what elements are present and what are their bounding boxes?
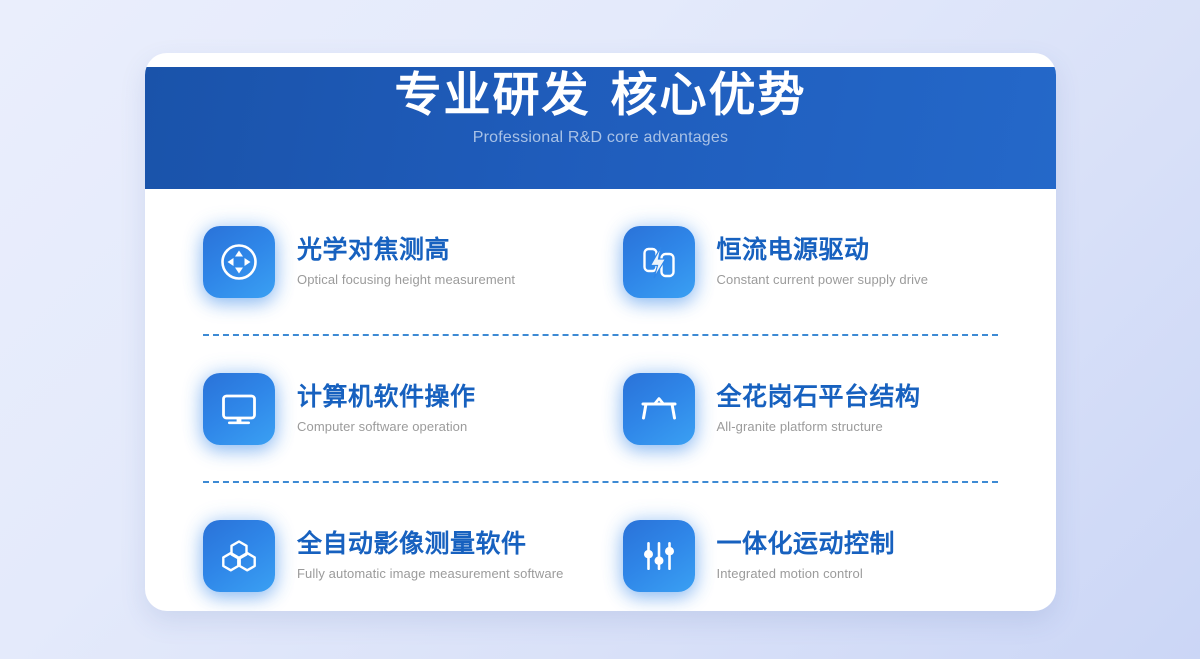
feature-row-2: 计算机软件操作 Computer software operation	[203, 336, 998, 481]
feature-title: 全花岗石平台结构	[717, 383, 921, 412]
feature-item-granite-platform[interactable]: 全花岗石平台结构 All-granite platform structure	[601, 373, 999, 445]
feature-text: 全自动影像测量软件 Fully automatic image measurem…	[275, 530, 563, 582]
feature-item-image-measurement[interactable]: 全自动影像测量软件 Fully automatic image measurem…	[203, 520, 601, 592]
feature-row-1: 光学对焦测高 Optical focusing height measureme…	[203, 189, 998, 334]
feature-item-optical-focus[interactable]: 光学对焦测高 Optical focusing height measureme…	[203, 226, 601, 298]
feature-item-power-supply[interactable]: 恒流电源驱动 Constant current power supply dri…	[601, 226, 999, 298]
advantages-card: 专业研发核心优势 Professional R&D core advantage…	[145, 53, 1056, 611]
feature-subtitle: Computer software operation	[297, 419, 476, 434]
platform-table-icon	[623, 373, 695, 445]
feature-subtitle: Fully automatic image measurement softwa…	[297, 566, 563, 581]
feature-item-motion-control[interactable]: 一体化运动控制 Integrated motion control	[601, 520, 999, 592]
features-grid: 光学对焦测高 Optical focusing height measureme…	[145, 189, 1056, 611]
feature-title: 全自动影像测量软件	[297, 530, 563, 559]
focus-crosshair-icon	[203, 226, 275, 298]
feature-text: 计算机软件操作 Computer software operation	[275, 383, 476, 435]
feature-subtitle: Constant current power supply drive	[717, 272, 929, 287]
feature-title: 一体化运动控制	[717, 530, 896, 559]
feature-title: 光学对焦测高	[297, 236, 515, 265]
feature-text: 一体化运动控制 Integrated motion control	[695, 530, 896, 582]
feature-title: 计算机软件操作	[297, 383, 476, 412]
page-title-part2: 核心优势	[611, 70, 807, 122]
monitor-icon	[203, 373, 275, 445]
page-root: 专业研发核心优势 Professional R&D core advantage…	[0, 0, 1200, 659]
feature-subtitle: Optical focusing height measurement	[297, 272, 515, 287]
hexagon-cluster-icon	[203, 520, 275, 592]
feature-text: 全花岗石平台结构 All-granite platform structure	[695, 383, 921, 435]
battery-lightning-icon	[623, 226, 695, 298]
page-title-part1: 专业研发	[395, 70, 591, 122]
feature-row-3: 全自动影像测量软件 Fully automatic image measurem…	[203, 483, 998, 611]
feature-subtitle: Integrated motion control	[717, 566, 896, 581]
feature-title: 恒流电源驱动	[717, 236, 929, 265]
sliders-icon	[623, 520, 695, 592]
feature-text: 恒流电源驱动 Constant current power supply dri…	[695, 236, 929, 288]
page-title: 专业研发核心优势	[145, 67, 1056, 126]
feature-text: 光学对焦测高 Optical focusing height measureme…	[275, 236, 515, 288]
card-header: 专业研发核心优势 Professional R&D core advantage…	[145, 67, 1056, 189]
feature-item-computer-software[interactable]: 计算机软件操作 Computer software operation	[203, 373, 601, 445]
feature-subtitle: All-granite platform structure	[717, 419, 921, 434]
page-subtitle: Professional R&D core advantages	[145, 129, 1056, 147]
